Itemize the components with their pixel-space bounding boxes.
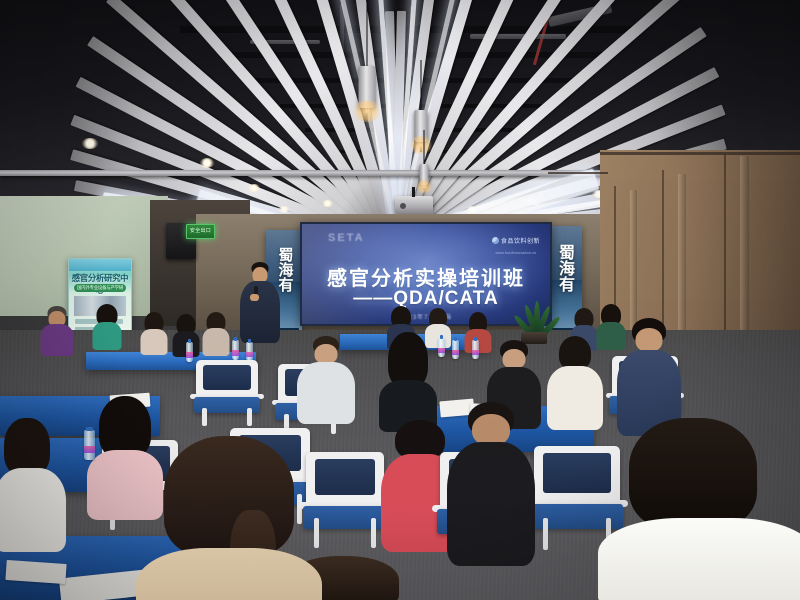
poster-subtitle: 国内外专业设备与产学研	[74, 284, 126, 292]
attendee	[140, 312, 168, 352]
banner-right-text: 蜀海有	[554, 244, 572, 292]
partition-track-rail	[600, 152, 800, 155]
presenter	[236, 262, 284, 342]
slide-logo-left: SETA	[328, 232, 365, 244]
potted-plant	[512, 296, 556, 336]
water-bottle	[84, 430, 95, 460]
attendee	[296, 336, 356, 422]
conference-room-photo: 安全出口 蜀海有 蜀海有 感官分析研究中心 国内外专业设备与产学研 SETA 食…	[0, 0, 800, 600]
attendee	[378, 332, 438, 428]
downlight	[248, 184, 260, 192]
attendee	[546, 336, 604, 428]
attendee	[0, 418, 74, 550]
foreground-attendee-white-shirt	[596, 418, 800, 600]
downlight	[200, 158, 214, 168]
slide-logo-right-url: www.foodinnovation.cn	[492, 251, 540, 255]
attendee	[202, 312, 230, 354]
slide-logo-right: 食品饮料创新 www.foodinnovation.cn	[492, 232, 540, 255]
exit-sign-label: 安全出口	[190, 229, 211, 234]
attendee	[40, 306, 74, 352]
chair	[196, 360, 258, 426]
exit-sign: 安全出口	[186, 224, 215, 239]
water-bottle	[438, 338, 445, 357]
partition-track-rail	[548, 172, 608, 174]
attendee	[616, 318, 682, 434]
ceiling-projector	[395, 196, 433, 214]
brand-mark-icon	[492, 237, 499, 244]
downlight	[278, 206, 290, 213]
water-bottle	[246, 342, 253, 361]
downlight	[322, 200, 333, 207]
presenter-hand	[250, 294, 259, 301]
pendant-lamp	[356, 0, 378, 118]
water-bottle	[472, 340, 479, 359]
pendant-lamp	[418, 130, 430, 190]
handout-paper	[5, 560, 66, 584]
water-bottle	[232, 340, 239, 360]
attendee	[446, 402, 536, 562]
downlight	[82, 138, 98, 149]
hair-tie	[190, 500, 212, 508]
foreground-attendee-ponytail	[134, 436, 324, 600]
water-bottle	[452, 340, 459, 359]
slide-logo-right-name: 食品饮料创新	[501, 236, 540, 245]
attendee	[92, 304, 122, 348]
water-bottle	[186, 342, 193, 362]
slide-title: 感官分析实操培训班	[302, 262, 550, 291]
